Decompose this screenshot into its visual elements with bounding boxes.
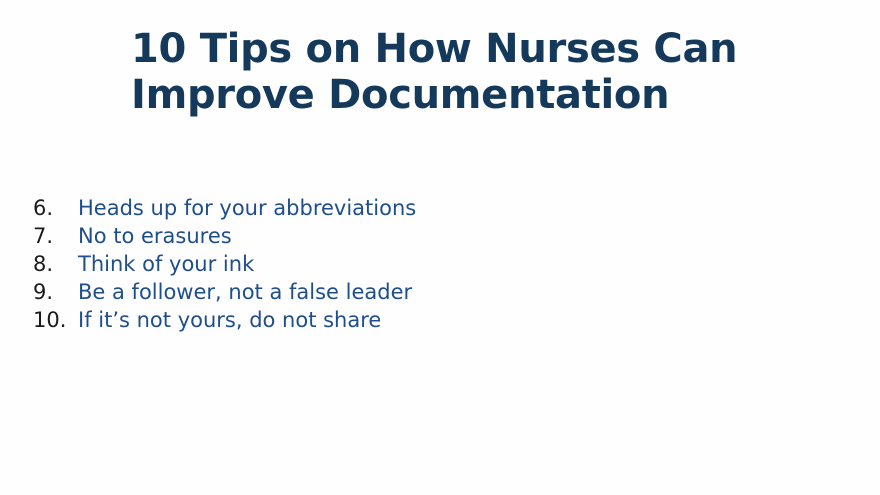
list-item-marker: 6. bbox=[33, 194, 78, 222]
list-item: 7. No to erasures bbox=[33, 222, 553, 250]
title-line-2: Improve Documentation bbox=[131, 72, 771, 118]
presentation-slide: 10 Tips on How Nurses Can Improve Docume… bbox=[0, 0, 880, 495]
numbered-list: 6. Heads up for your abbreviations 7. No… bbox=[33, 194, 553, 334]
list-item-text: Think of your ink bbox=[78, 250, 553, 278]
list-item-text: Heads up for your abbreviations bbox=[78, 194, 553, 222]
list-item-marker: 8. bbox=[33, 250, 78, 278]
list-item-text: Be a follower, not a false leader bbox=[78, 278, 553, 306]
slide-title: 10 Tips on How Nurses Can Improve Docume… bbox=[131, 26, 771, 118]
list-item-marker: 10. bbox=[33, 306, 78, 334]
list-item: 10. If it’s not yours, do not share bbox=[33, 306, 553, 334]
list-item-marker: 7. bbox=[33, 222, 78, 250]
list-item: 8. Think of your ink bbox=[33, 250, 553, 278]
list-item-text: If it’s not yours, do not share bbox=[78, 306, 553, 334]
title-line-1: 10 Tips on How Nurses Can bbox=[131, 26, 771, 72]
list-item-text: No to erasures bbox=[78, 222, 553, 250]
list-item: 9. Be a follower, not a false leader bbox=[33, 278, 553, 306]
list-item-marker: 9. bbox=[33, 278, 78, 306]
list-item: 6. Heads up for your abbreviations bbox=[33, 194, 553, 222]
